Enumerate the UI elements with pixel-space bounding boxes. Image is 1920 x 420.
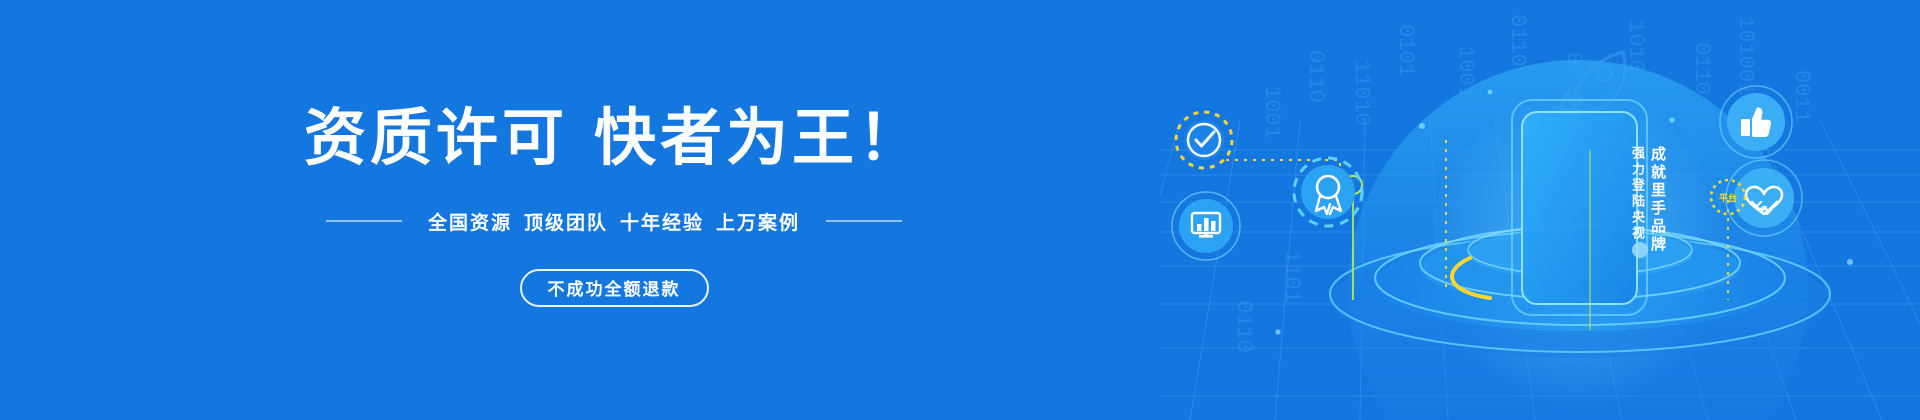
svg-text:0110: 0110	[1231, 300, 1256, 353]
subtitle-text: 全国资源顶级团队十年经验上万案例	[428, 208, 800, 235]
phone-device	[1512, 100, 1647, 315]
svg-text:0101: 0101	[1393, 24, 1418, 77]
svg-text:1001: 1001	[1259, 86, 1284, 139]
illustration-svg: 1001 0110 11010 0101 1001 0110 0011 1010…	[1160, 0, 1920, 420]
bar-chart-monitor-icon	[1172, 192, 1240, 260]
svg-text:0110: 0110	[1505, 14, 1530, 67]
refund-guarantee-button[interactable]: 不成功全额退款	[520, 269, 709, 307]
thumbs-up-icon	[1720, 86, 1792, 158]
promo-banner: 资质许可快者为王！ 全国资源顶级团队十年经验上万案例 不成功全额退款	[0, 0, 1920, 420]
svg-text:0011: 0011	[1789, 70, 1814, 123]
headline-part-1: 资质许可	[304, 104, 568, 173]
svg-text:0110: 0110	[1303, 50, 1328, 103]
subtitle-item-1: 顶级团队	[524, 213, 608, 234]
subtitle-row: 全国资源顶级团队十年经验上万案例	[326, 208, 902, 235]
svg-text:101001: 101001	[1733, 16, 1758, 95]
divider-line-left	[326, 220, 402, 222]
divider-line-right	[826, 220, 902, 222]
subtitle-item-2: 十年经验	[620, 213, 704, 234]
svg-text:1010: 1010	[1623, 20, 1648, 73]
illustration: 1001 0110 11010 0101 1001 0110 0011 1010…	[1160, 0, 1920, 420]
check-circle-icon	[1176, 112, 1232, 168]
page-title: 资质许可快者为王！	[304, 108, 924, 170]
award-medal-icon	[1294, 158, 1362, 226]
svg-text:0110: 0110	[1689, 42, 1714, 95]
handshake-heart-icon	[1726, 160, 1802, 236]
copy-block: 资质许可快者为王！ 全国资源顶级团队十年经验上万案例 不成功全额退款	[0, 0, 1200, 420]
subtitle-item-0: 全国资源	[428, 213, 512, 234]
headline-part-2: 快者为王！	[594, 104, 924, 173]
svg-text:1101: 1101	[1279, 250, 1304, 303]
svg-text:11010: 11010	[1349, 60, 1374, 126]
subtitle-item-3: 上万案例	[716, 213, 800, 234]
